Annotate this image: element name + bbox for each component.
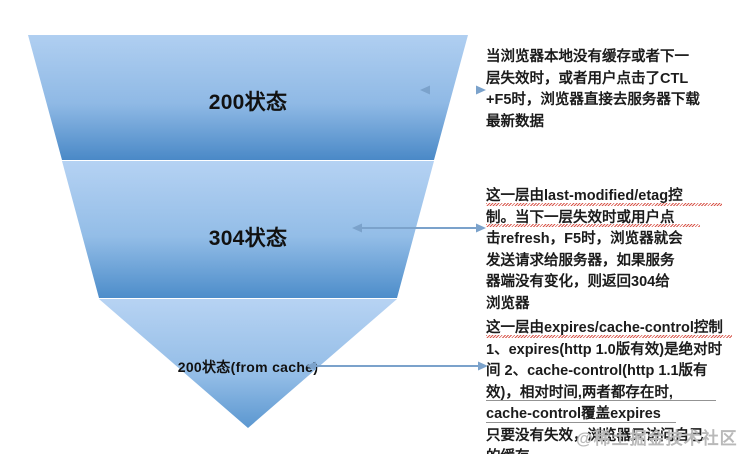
arrow-top-double-headed-icon bbox=[420, 82, 486, 98]
annotation-line: 击refresh，F5时，浏览器就会 bbox=[486, 229, 736, 251]
annotation-line: 1、expires(http 1.0版有效)是绝对时 bbox=[486, 340, 738, 362]
arrow-middle-double-headed-icon bbox=[352, 220, 486, 236]
arrow-bottom-double-headed-icon bbox=[306, 358, 488, 374]
spellcheck-squiggle bbox=[486, 335, 732, 338]
annotation-200-status: 当浏览器本地没有缓存或者下一 层失效时，或者用户点击了CTL +F5时，浏览器直… bbox=[486, 47, 736, 133]
underline-mark bbox=[486, 422, 676, 423]
annotation-304-status: 这一层由last-modified/etag控 制。当下一层失效时或用户点 击r… bbox=[486, 186, 736, 315]
spellcheck-squiggle bbox=[486, 203, 722, 206]
annotation-line: 最新数据 bbox=[486, 112, 736, 134]
annotation-line: 当浏览器本地没有缓存或者下一 bbox=[486, 47, 736, 69]
annotation-line: 间 2、cache-control(http 1.1版有 bbox=[486, 361, 738, 383]
annotation-line: 层失效时，或者用户点击了CTL bbox=[486, 69, 736, 91]
underline-mark bbox=[486, 400, 716, 401]
spellcheck-squiggle bbox=[486, 224, 700, 227]
annotation-line: 发送请求给服务器，如果服务 bbox=[486, 251, 736, 273]
watermark: @稀土掘金技术社区 bbox=[576, 424, 738, 449]
annotation-line: +F5时，浏览器直接去服务器下载 bbox=[486, 90, 736, 112]
annotation-line: 器端没有变化，则返回304给 bbox=[486, 272, 736, 294]
annotation-line: 浏览器 bbox=[486, 294, 736, 316]
diagram-canvas: 200状态 304状态 200状态(from cache) 当浏览器本地没有缓存… bbox=[0, 0, 738, 454]
